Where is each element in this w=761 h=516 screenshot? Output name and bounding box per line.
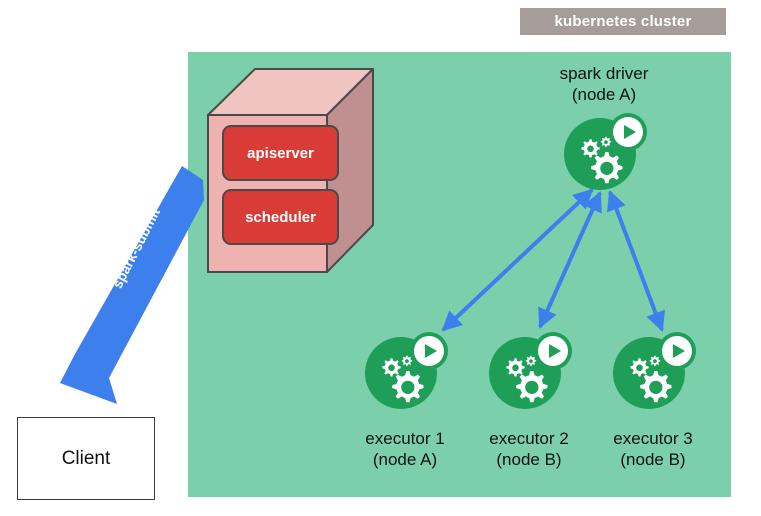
pod-scheduler[interactable]: scheduler xyxy=(222,189,339,245)
caption-spark-driver-line2: (node A) xyxy=(528,84,680,105)
node-icon-executor-1[interactable] xyxy=(359,329,451,411)
spark-submit-arrow xyxy=(55,158,215,408)
node-icon-spark-driver[interactable] xyxy=(558,110,650,192)
node-icon-executor-2[interactable] xyxy=(483,329,575,411)
spark-node-gears-play-icon xyxy=(359,329,451,411)
node-icon-executor-3[interactable] xyxy=(607,329,699,411)
caption-spark-driver: spark driver (node A) xyxy=(528,63,680,105)
pod-apiserver-label: apiserver xyxy=(247,145,314,162)
spark-node-gears-play-icon xyxy=(607,329,699,411)
kubernetes-cluster-banner-label: kubernetes cluster xyxy=(555,13,692,30)
diagram-canvas: kubernetes cluster apiserver scheduler s… xyxy=(0,0,761,516)
kubernetes-cluster-banner: kubernetes cluster xyxy=(520,8,726,35)
control-plane-cube: apiserver scheduler xyxy=(203,63,378,278)
client-label: Client xyxy=(62,448,111,470)
caption-executor-3-line2: (node B) xyxy=(577,449,729,470)
caption-executor-3-line1: executor 3 xyxy=(577,428,729,449)
spark-node-gears-play-icon xyxy=(558,110,650,192)
caption-spark-driver-line1: spark driver xyxy=(528,63,680,84)
caption-executor-3: executor 3 (node B) xyxy=(577,428,729,470)
spark-node-gears-play-icon xyxy=(483,329,575,411)
spark-submit-arrow-icon xyxy=(55,158,215,408)
client-box[interactable]: Client xyxy=(17,417,155,500)
pod-scheduler-label: scheduler xyxy=(245,209,316,226)
pod-apiserver[interactable]: apiserver xyxy=(222,125,339,181)
